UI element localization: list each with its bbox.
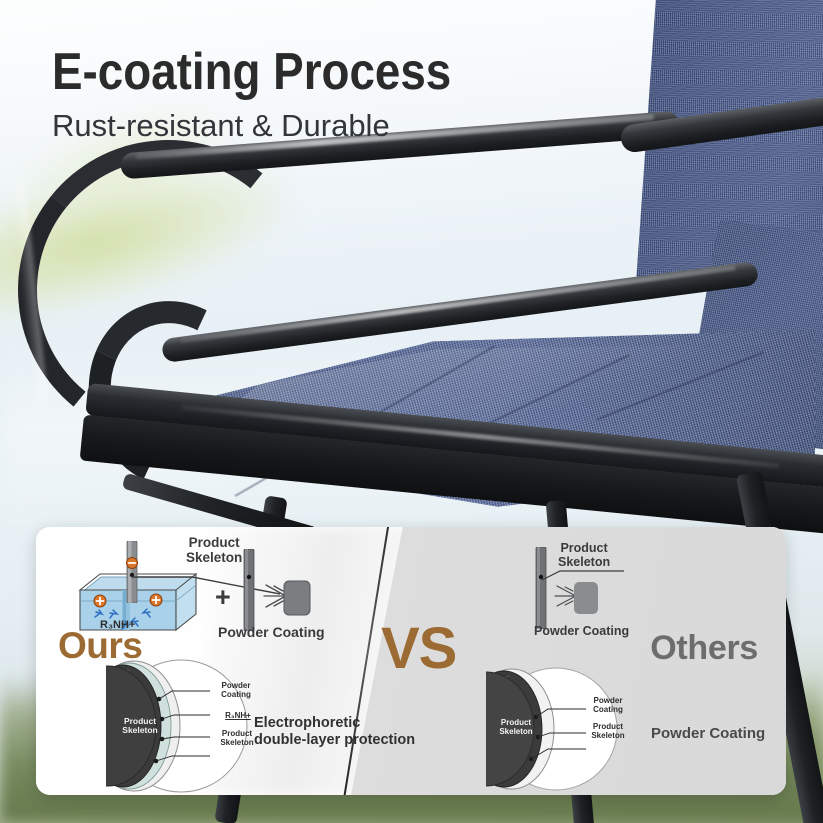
detail-core-label-left: Product Skeleton [112,717,168,736]
product-infographic: E-coating Process Rust-resistant & Durab… [0,0,823,823]
page-title: E-coating Process [52,42,451,102]
vs-label: VS [381,615,456,682]
page-subtitle: Rust-resistant & Durable [52,108,390,144]
detail-label-skeleton-right: Product Skeleton [580,723,636,741]
caption-product-skeleton-right: Product Skeleton [558,541,610,570]
spray-gun-left [260,577,318,621]
leader-line-skeleton-left [132,572,280,596]
plus-operator: + [215,582,231,613]
conclusion-right: Powder Coating [651,725,765,742]
detail-label-powder-coating-left: Powder Coating [208,682,264,700]
ours-label: Ours [58,625,142,667]
others-label: Others [650,629,758,668]
detail-core-label-right: Product Skeleton [488,719,544,737]
spray-gun-right [550,577,608,621]
caption-powder-coating-left: Powder Coating [218,625,325,641]
caption-powder-coating-right: Powder Coating [534,624,629,638]
detail-label-powder-coating-right: Powder Coating [582,697,634,715]
powder-coating-rod-right [534,547,548,629]
conclusion-left: Electrophoretic double-layer protection [254,715,415,748]
powder-coating-rod-left [242,549,256,631]
caption-product-skeleton-left: Product Skeleton [186,535,242,566]
comparison-panel: R₃NH+ Product Skeleton + [36,527,786,795]
